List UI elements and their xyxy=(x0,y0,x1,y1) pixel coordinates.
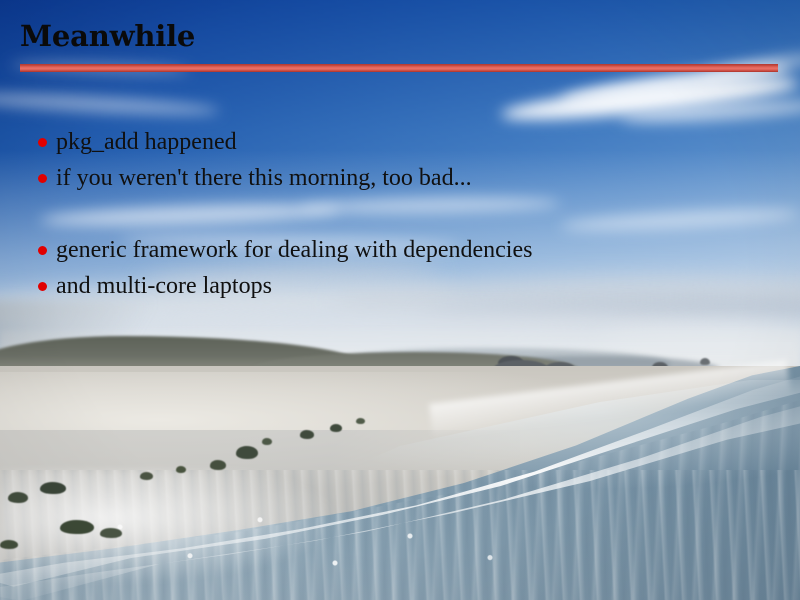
title-underline-rule xyxy=(20,64,778,72)
list-item: and multi-core laptops xyxy=(30,268,770,304)
list-item-label: and multi-core laptops xyxy=(56,273,272,299)
bullet-dot-icon xyxy=(38,282,47,291)
list-item-label: pkg_add happened xyxy=(56,129,237,155)
list-item-label: if you weren't there this morning, too b… xyxy=(56,165,472,191)
list-item: generic framework for dealing with depen… xyxy=(30,232,770,268)
list-item: if you weren't there this morning, too b… xyxy=(30,160,770,196)
presentation-slide: Meanwhile pkg_add happened if you weren'… xyxy=(0,0,800,600)
list-item: pkg_add happened xyxy=(30,124,770,160)
bullet-dot-icon xyxy=(38,174,47,183)
bullet-dot-icon xyxy=(38,138,47,147)
list-item-label: generic framework for dealing with depen… xyxy=(56,237,532,263)
slide-title: Meanwhile xyxy=(20,22,195,51)
bullet-dot-icon xyxy=(38,246,47,255)
bullet-list: pkg_add happened if you weren't there th… xyxy=(30,124,770,304)
